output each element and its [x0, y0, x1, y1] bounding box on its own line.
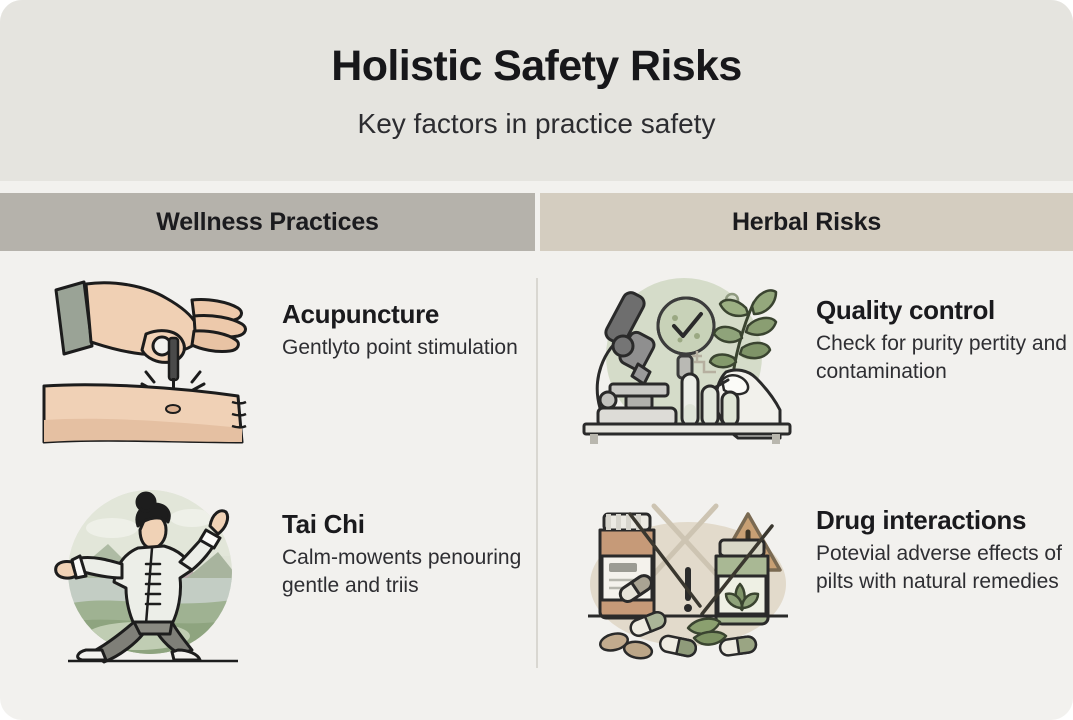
column-header-herbal-risks: Herbal Risks — [540, 193, 1073, 251]
cell-text-block: Tai Chi Calm-mowents penouring gentle an… — [266, 482, 532, 600]
column-divider — [536, 278, 538, 668]
header-banner: Holistic Safety Risks Key factors in pra… — [0, 0, 1073, 181]
cell-text-block: Quality control Check for purity pertity… — [800, 268, 1073, 386]
cell-description: Potevial adverse effects of pilts with n… — [816, 540, 1073, 596]
tai-chi-illustration — [42, 482, 266, 662]
drug-interactions-illustration — [576, 478, 800, 658]
column-header-label: Herbal Risks — [732, 208, 881, 237]
cell-title: Acupuncture — [282, 300, 532, 330]
cell-drug-interactions: Drug interactions Potevial adverse effec… — [576, 478, 1073, 658]
cell-tai-chi: Tai Chi Calm-mowents penouring gentle an… — [42, 482, 532, 662]
page-title: Holistic Safety Risks — [0, 44, 1073, 89]
cell-acupuncture: Acupuncture Gentlyto point stimulation — [42, 272, 532, 452]
cell-text-block: Acupuncture Gentlyto point stimulation — [266, 272, 532, 362]
quality-control-illustration — [576, 268, 800, 448]
cell-description: Check for purity pertity and contaminati… — [816, 330, 1073, 386]
column-header-wellness-practices: Wellness Practices — [0, 193, 535, 251]
cell-title: Tai Chi — [282, 510, 532, 540]
column-header-label: Wellness Practices — [156, 208, 378, 237]
cell-title: Drug interactions — [816, 506, 1073, 536]
acupuncture-illustration — [42, 272, 266, 452]
infographic-card: Holistic Safety Risks Key factors in pra… — [0, 0, 1073, 720]
cell-title: Quality control — [816, 296, 1073, 326]
cell-description: Gentlyto point stimulation — [282, 334, 532, 362]
page-subtitle: Key factors in practice safety — [0, 108, 1073, 140]
cell-description: Calm-mowents penouring gentle and triis — [282, 544, 532, 600]
cell-quality-control: Quality control Check for purity pertity… — [576, 268, 1073, 448]
cell-text-block: Drug interactions Potevial adverse effec… — [800, 478, 1073, 596]
